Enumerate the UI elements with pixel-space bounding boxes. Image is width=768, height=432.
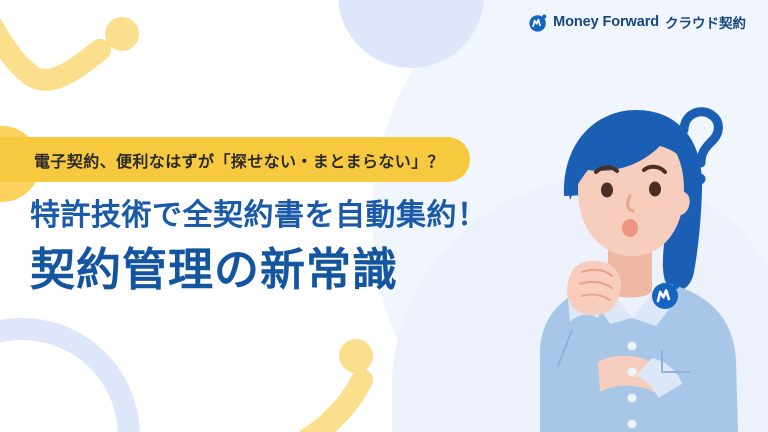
hero-banner-canvas: Money Forward クラウド契約 電子契約、便利なはずが「探せない・まと… bbox=[0, 0, 768, 432]
shirt-button bbox=[628, 342, 637, 351]
brand-logo[interactable]: Money Forward クラウド契約 bbox=[529, 12, 746, 32]
mouth bbox=[622, 219, 638, 237]
yellow-check-swoosh-icon bbox=[0, 0, 146, 114]
headline-line-1: 特許技術で全契約書を自動集約！ bbox=[30, 196, 550, 235]
brand-product-name: クラウド契約 bbox=[665, 12, 746, 32]
lavender-ring-decoration bbox=[0, 318, 140, 432]
shirt-button bbox=[628, 368, 637, 377]
headline-line-2: 契約管理の新常識 bbox=[30, 241, 550, 300]
page-title: 特許技術で全契約書を自動集約！ 契約管理の新常識 bbox=[30, 196, 550, 300]
yellow-check-swoosh-icon bbox=[300, 338, 430, 432]
shirt-button bbox=[628, 394, 637, 403]
brand-name: Money Forward bbox=[553, 14, 659, 30]
money-forward-mark-icon bbox=[529, 13, 548, 32]
eyebrow-text: 電子契約、便利なはずが「探せない・まとまらない」？ bbox=[34, 148, 444, 172]
eye-left bbox=[601, 183, 613, 198]
thinking-woman-illustration bbox=[512, 104, 768, 432]
eye-right bbox=[649, 182, 661, 197]
shirt-button bbox=[628, 420, 637, 429]
eyebrow-banner: 電子契約、便利なはずが「探せない・まとまらない」？ bbox=[0, 137, 470, 182]
